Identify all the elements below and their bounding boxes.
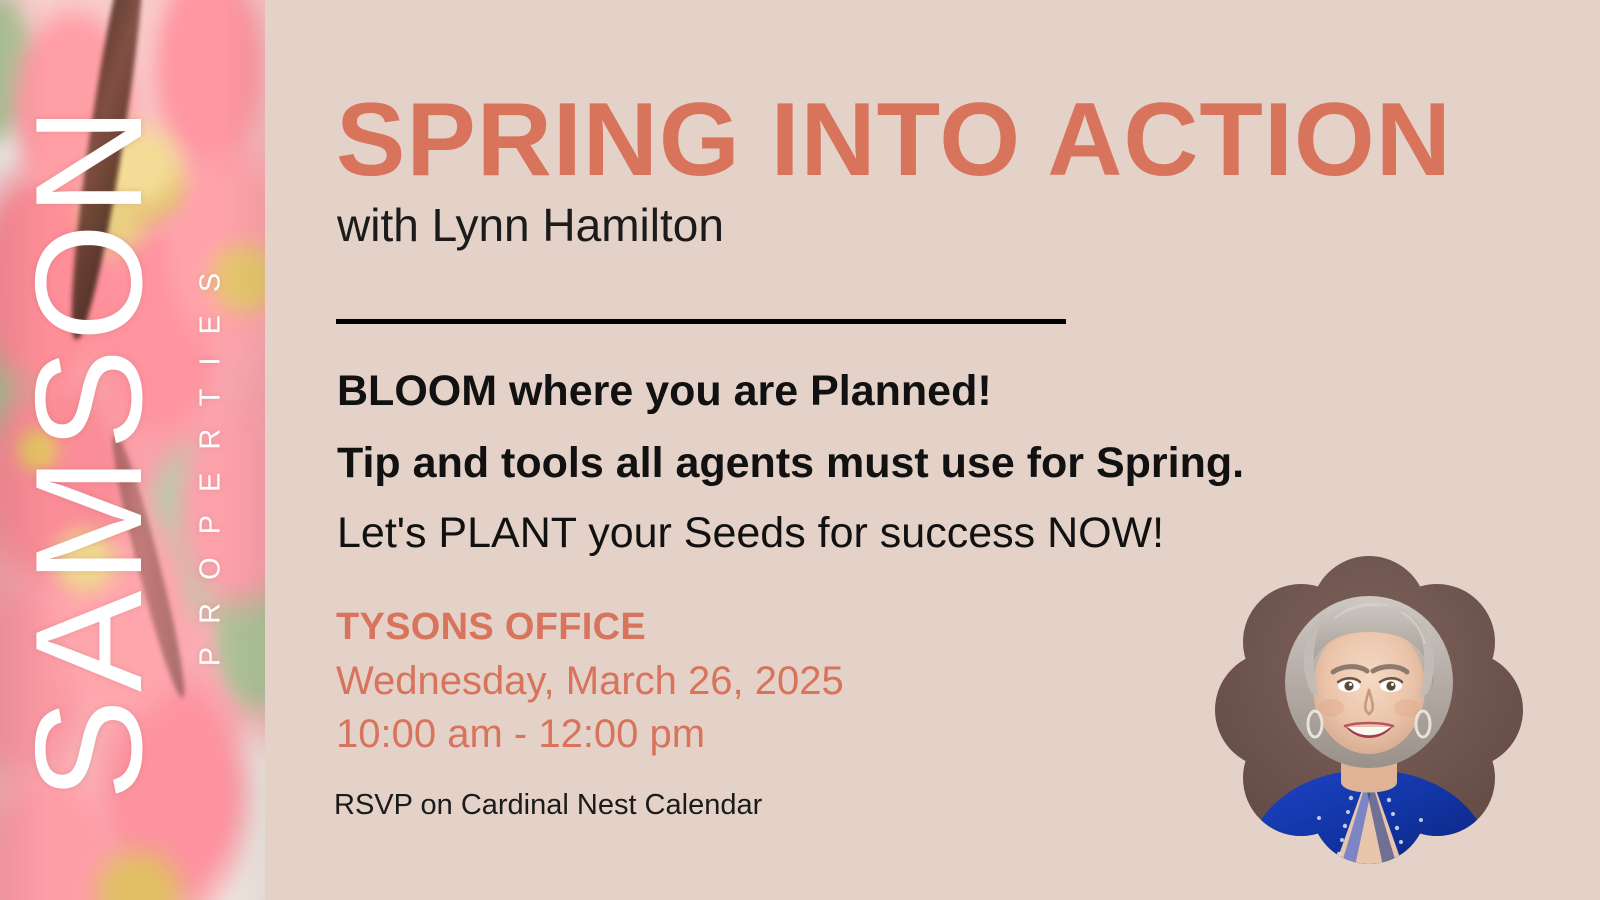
body-line-3: Let's PLANT your Seeds for success NOW! <box>337 510 1164 557</box>
event-time: 10:00 am - 12:00 pm <box>336 712 705 756</box>
presenter-portrait <box>1215 556 1523 866</box>
content-area: SPRING INTO ACTION with Lynn Hamilton BL… <box>265 0 1600 900</box>
body-line-2: Tip and tools all agents must use for Sp… <box>337 440 1244 487</box>
portrait-clipped-group <box>1215 556 1523 866</box>
event-location: TYSONS OFFICE <box>336 607 646 649</box>
rsvp-instruction: RSVP on Cardinal Nest Calendar <box>334 789 762 822</box>
flyer-canvas: SAMSON PROPERTIES SPRING INTO ACTION wit… <box>0 0 1600 900</box>
blossom-background-image <box>0 0 265 900</box>
page-title: SPRING INTO ACTION <box>336 88 1452 192</box>
divider-rule <box>336 319 1066 324</box>
brand-panel: SAMSON PROPERTIES <box>0 0 265 900</box>
event-date: Wednesday, March 26, 2025 <box>336 659 844 703</box>
page-subtitle: with Lynn Hamilton <box>337 199 724 252</box>
body-line-1: BLOOM where you are Planned! <box>337 368 992 415</box>
portrait-svg <box>1215 556 1523 866</box>
